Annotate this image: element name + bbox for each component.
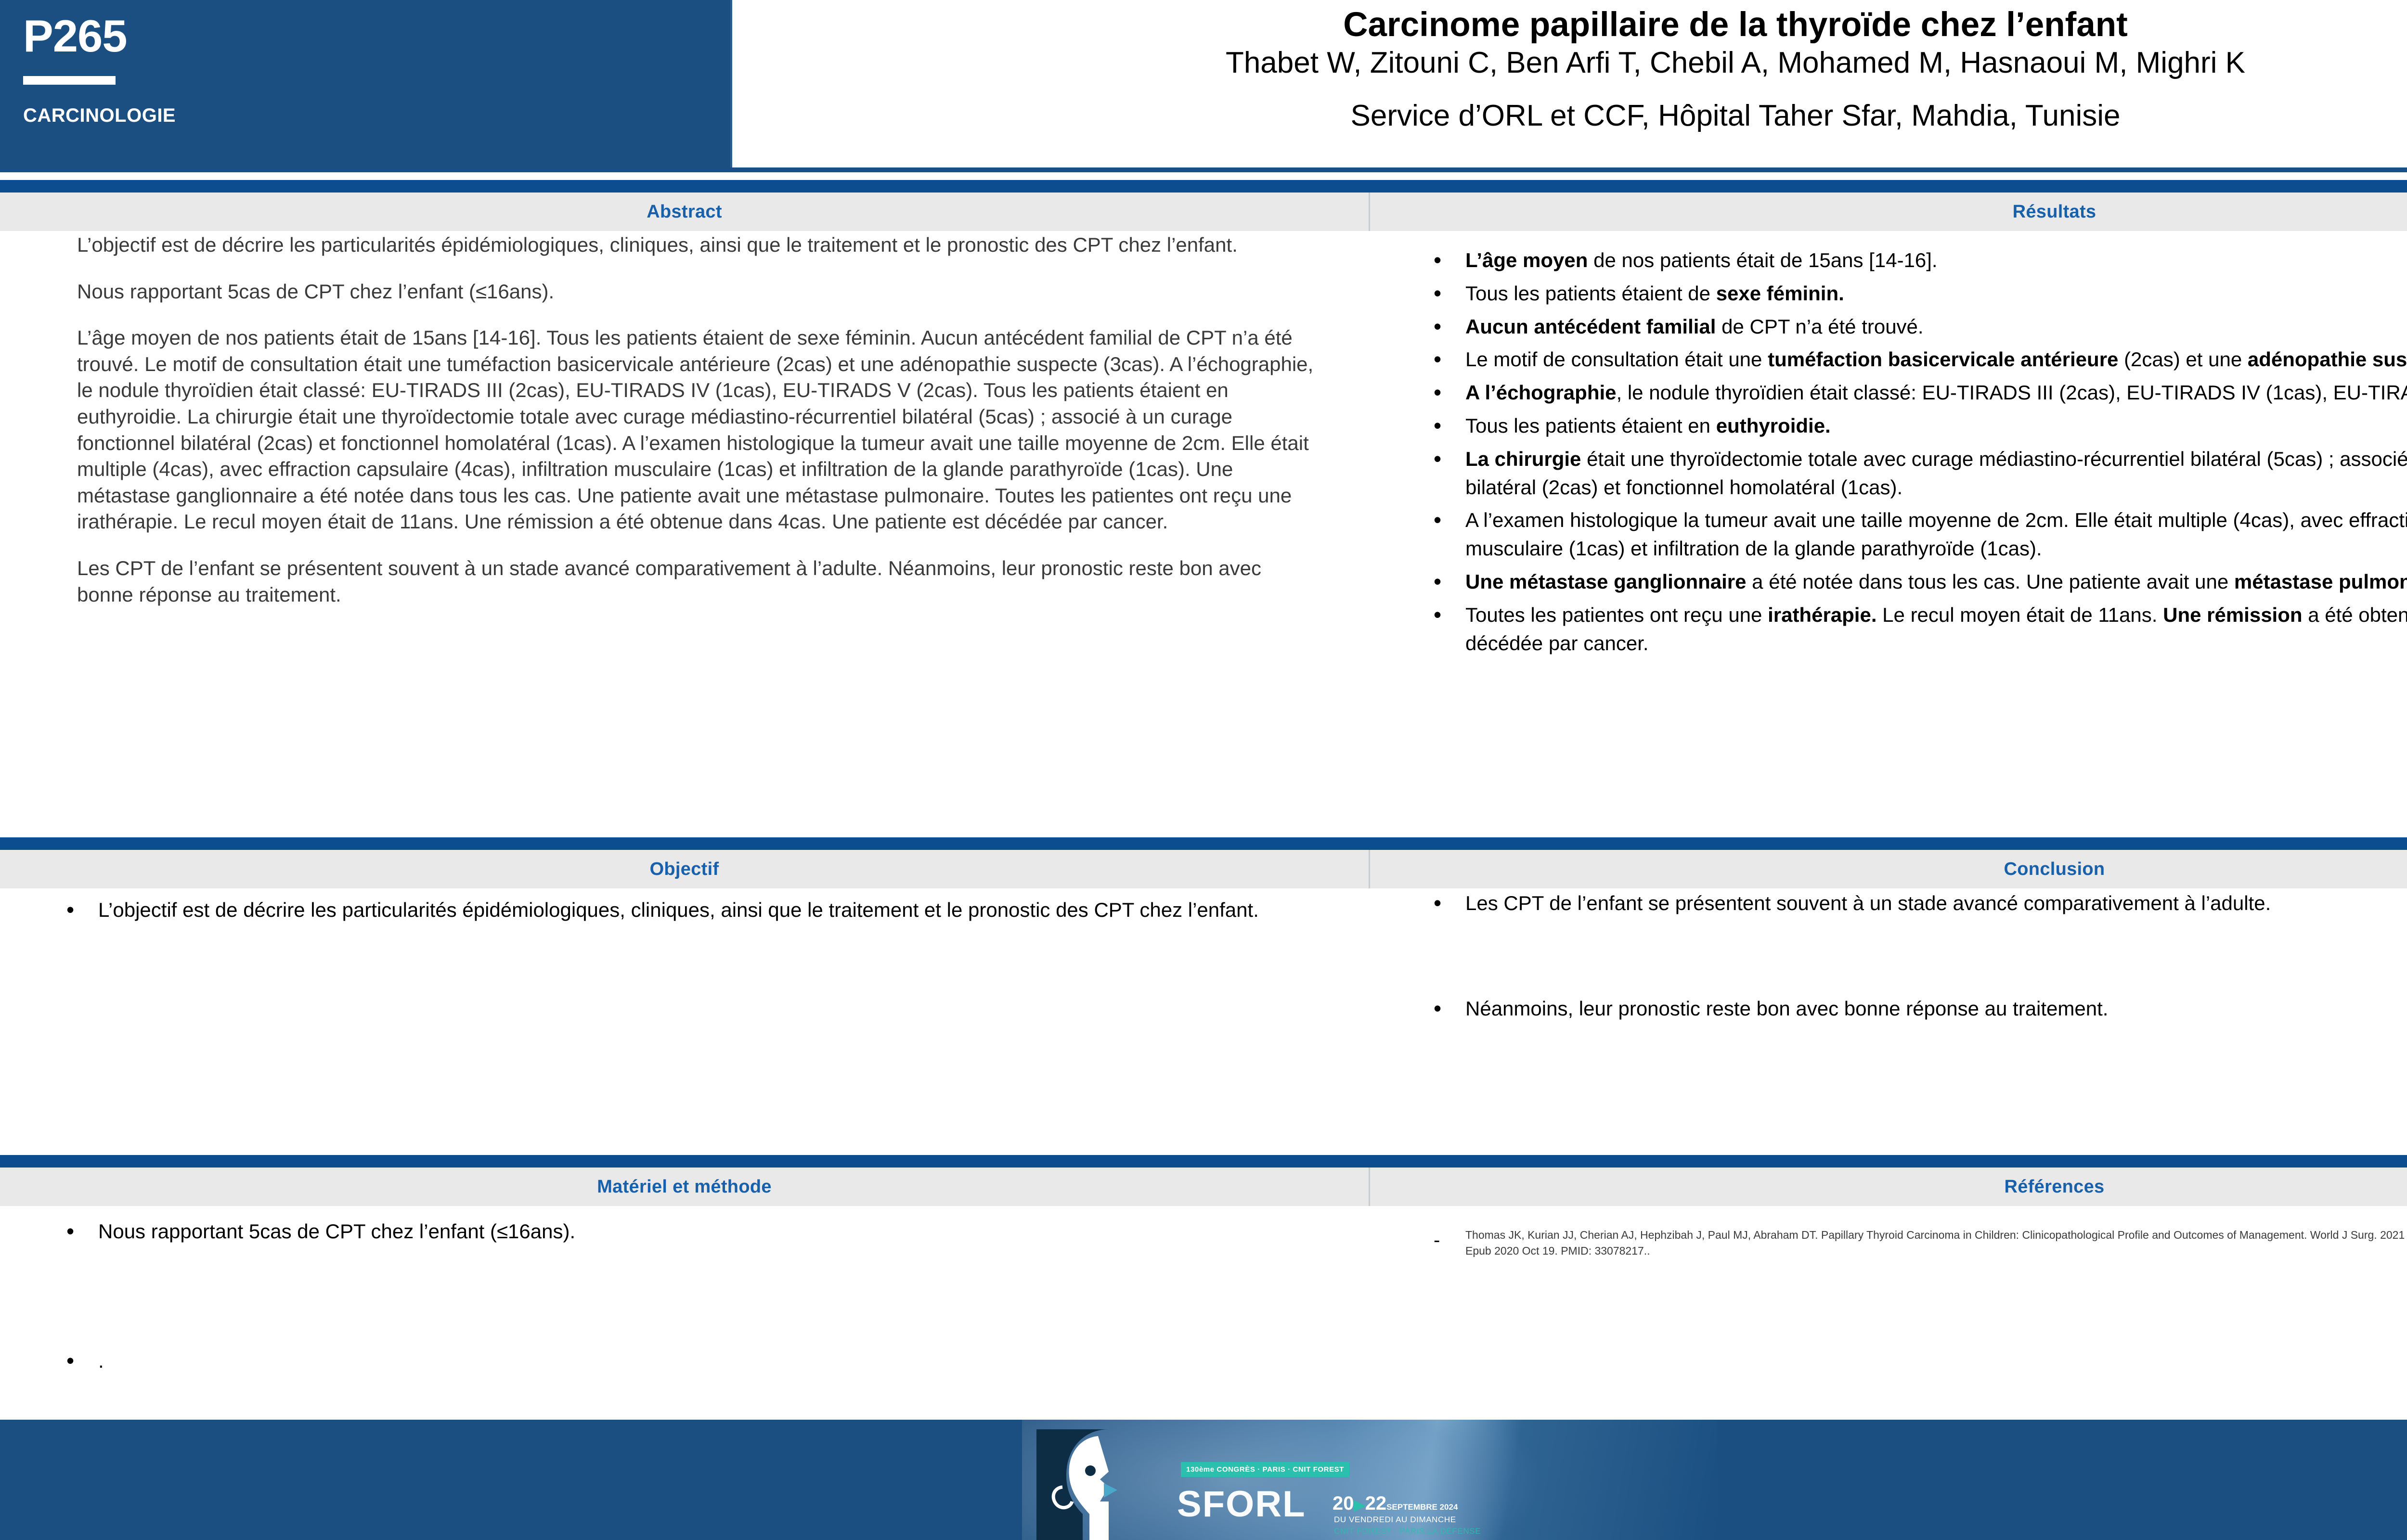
emphasised-text: Une métastase ganglionnaire xyxy=(1465,570,1747,593)
poster-badge-box: P265 CARCINOLOGIE xyxy=(0,0,732,167)
date-start: 20 xyxy=(1333,1493,1354,1514)
section-heading-label: Références xyxy=(2005,1177,2105,1197)
emphasised-text: L’âge moyen xyxy=(1465,249,1588,271)
emphasised-text: A l’échographie xyxy=(1465,381,1617,404)
abstract-body: L’objectif est de décrire les particular… xyxy=(77,232,1319,608)
list-item: La chirurgie était une thyroïdectomie to… xyxy=(1425,445,2407,502)
list-item: . xyxy=(58,1347,1300,1375)
emphasised-text: La chirurgie xyxy=(1465,448,1581,470)
bullet-text: Toutes les patientes ont reçu une xyxy=(1465,603,1768,626)
congress-dates: 20▶22SEPTEMBRE 2024 xyxy=(1333,1493,1458,1514)
affiliation-line: Service d’ORL et CCF, Hôpital Taher Sfar… xyxy=(1351,100,2121,132)
header-underline-rule xyxy=(0,167,2407,172)
emphasised-text: sexe féminin. xyxy=(1716,282,1844,305)
list-item: Une métastase ganglionnaire a été notée … xyxy=(1425,568,2407,596)
section-heading-label: Abstract xyxy=(647,202,722,222)
bullet-text: Les CPT de l’enfant se présentent souven… xyxy=(1465,892,2271,914)
poster-number: P265 xyxy=(23,13,127,59)
section-heading-label: Résultats xyxy=(2013,202,2096,222)
date-end: 22 xyxy=(1365,1493,1387,1514)
emphasised-text: Une rémission xyxy=(2163,603,2302,626)
row2-band-rule xyxy=(0,837,2407,850)
bullet-text: de nos patients était de 15ans [14-16]. xyxy=(1588,249,1937,271)
section-header-references: Références xyxy=(1370,1168,2407,1206)
list-item: Les CPT de l’enfant se présentent souven… xyxy=(1425,889,2407,918)
list-item: Tous les patients étaient de sexe fémini… xyxy=(1425,280,2407,308)
bullet-text: était une thyroïdectomie totale avec cur… xyxy=(1465,448,2407,499)
bullet-text: de CPT n’a été trouvé. xyxy=(1716,315,1923,338)
congress-badge: 130ème CONGRÈS · PARIS · CNIT FOREST xyxy=(1181,1462,1349,1477)
row2-column-divider xyxy=(1369,850,1370,888)
poster-footer-bar: 130ème CONGRÈS · PARIS · CNIT FOREST SFO… xyxy=(0,1420,2407,1540)
date-month: SEPTEMBRE 2024 xyxy=(1386,1502,1458,1512)
list-item: Toutes les patientes ont reçu une irathé… xyxy=(1425,601,2407,658)
list-item: A l’examen histologique la tumeur avait … xyxy=(1425,506,2407,563)
list-item: Aucun antécédent familial de CPT n’a été… xyxy=(1425,313,2407,341)
emphasised-text: adénopathie suspecte xyxy=(2248,348,2407,371)
page-title: Carcinome papillaire de la thyroïde chez… xyxy=(1343,7,2128,44)
emphasised-text: euthyroidie. xyxy=(1716,414,1831,437)
section-heading-label: Matériel et méthode xyxy=(597,1177,772,1197)
emphasised-text: Aucun antécédent familial xyxy=(1465,315,1716,338)
emphasised-text: métastase pulmonaire. xyxy=(2234,570,2407,593)
bullet-text: Le recul moyen était de 11ans. xyxy=(1877,603,2163,626)
abstract-paragraph: L’objectif est de décrire les particular… xyxy=(77,232,1319,258)
abstract-paragraph: Nous rapportant 5cas de CPT chez l’enfan… xyxy=(77,279,1319,305)
list-item: Thomas JK, Kurian JJ, Cherian AJ, Hephzi… xyxy=(1425,1227,2407,1259)
section-header-conclusion: Conclusion xyxy=(1370,850,2407,888)
row1-column-divider xyxy=(1369,192,1370,231)
list-item: Néanmoins, leur pronostic reste bon avec… xyxy=(1425,995,2407,1023)
bullet-text: A l’examen histologique la tumeur avait … xyxy=(1465,509,2407,560)
resultats-bullet-list: L’âge moyen de nos patients était de 15a… xyxy=(1425,246,2407,662)
bullet-text: (2cas) et une xyxy=(2118,348,2247,371)
abstract-paragraph: L’âge moyen de nos patients était de 15a… xyxy=(77,325,1319,535)
row3-band-rule xyxy=(0,1155,2407,1168)
materiel-bullet-list: Nous rapportant 5cas de CPT chez l’enfan… xyxy=(58,1218,1300,1380)
bullet-text: Néanmoins, leur pronostic reste bon avec… xyxy=(1465,997,2108,1020)
section-header-abstract: Abstract xyxy=(0,192,1369,231)
bullet-text: Le motif de consultation était une xyxy=(1465,348,1768,371)
bullet-text: , le nodule thyroïdien était classé: EU-… xyxy=(1617,381,2407,404)
congress-venue: CNIT FOREST · PARIS LA DÉFENSE xyxy=(1334,1527,1481,1536)
emphasised-text: irathérapie. xyxy=(1768,603,1876,626)
section-header-materiel: Matériel et méthode xyxy=(0,1168,1369,1206)
row1-band-rule xyxy=(0,180,2407,192)
congress-days: DU VENDREDI AU DIMANCHE xyxy=(1334,1515,1456,1525)
bullet-text: Tous les patients étaient en xyxy=(1465,414,1716,437)
emphasised-text: tuméfaction basicervicale antérieure xyxy=(1768,348,2118,371)
author-list: Thabet W, Zitouni C, Ben Arfi T, Chebil … xyxy=(1226,47,2245,79)
badge-divider-rule xyxy=(23,76,116,85)
bullet-text: L’objectif est de décrire les particular… xyxy=(98,898,1259,921)
sforl-congress-logo: 130ème CONGRÈS · PARIS · CNIT FOREST SFO… xyxy=(1022,1420,1717,1540)
list-item: Tous les patients étaient en euthyroidie… xyxy=(1425,412,2407,440)
section-heading-label: Conclusion xyxy=(2004,859,2105,880)
list-item: A l’échographie, le nodule thyroïdien ét… xyxy=(1425,379,2407,407)
section-header-objectif: Objectif xyxy=(0,850,1369,888)
sforl-wordmark: SFORL xyxy=(1177,1483,1306,1525)
bullet-text: a été notée dans tous les cas. Une patie… xyxy=(1747,570,2234,593)
list-item: L’âge moyen de nos patients était de 15a… xyxy=(1425,246,2407,275)
objectif-bullet-list: L’objectif est de décrire les particular… xyxy=(58,896,1300,929)
face-silhouette-icon xyxy=(1036,1429,1152,1540)
abstract-paragraph: Les CPT de l’enfant se présentent souven… xyxy=(77,555,1319,608)
poster-category: CARCINOLOGIE xyxy=(23,105,176,127)
section-header-resultats: Résultats xyxy=(1370,192,2407,231)
arrow-icon: ▶ xyxy=(1354,1497,1365,1513)
bullet-text: Thomas JK, Kurian JJ, Cherian AJ, Hephzi… xyxy=(1465,1229,2407,1257)
poster-canvas: P265 CARCINOLOGIE Carcinome papillaire d… xyxy=(0,0,2407,1540)
bullet-text: . xyxy=(98,1349,104,1372)
bullet-text: Tous les patients étaient de xyxy=(1465,282,1716,305)
row3-column-divider xyxy=(1369,1168,1370,1206)
title-zone: Carcinome papillaire de la thyroïde chez… xyxy=(732,0,2407,167)
list-item: L’objectif est de décrire les particular… xyxy=(58,896,1300,924)
references-list: Thomas JK, Kurian JJ, Cherian AJ, Hephzi… xyxy=(1425,1227,2407,1259)
conclusion-bullet-list: Les CPT de l’enfant se présentent souven… xyxy=(1425,889,2407,1028)
list-item: Le motif de consultation était une tuméf… xyxy=(1425,346,2407,374)
section-heading-label: Objectif xyxy=(650,859,719,880)
bullet-text: Nous rapportant 5cas de CPT chez l’enfan… xyxy=(98,1220,575,1243)
list-item: Nous rapportant 5cas de CPT chez l’enfan… xyxy=(58,1218,1300,1246)
